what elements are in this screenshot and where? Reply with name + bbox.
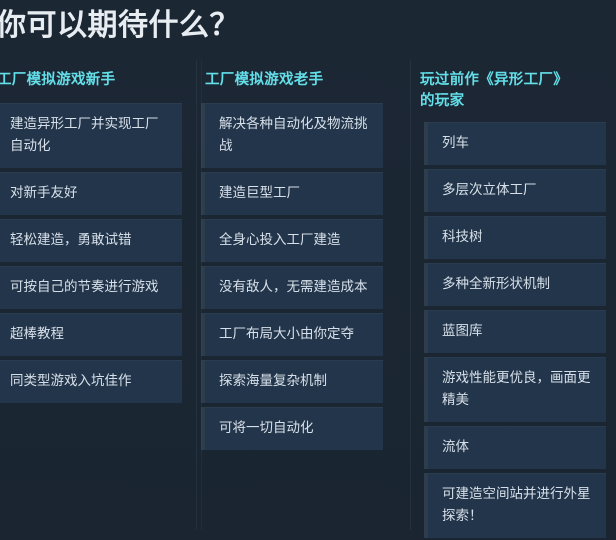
feature-card-text: 超棒教程 <box>10 323 168 345</box>
feature-card-text: 工厂布局大小由你定夺 <box>219 323 369 345</box>
column-veteran: 工厂模拟游戏老手 解决各种自动化及物流挑战 建造巨型工厂 全身心投入工厂建造 没… <box>196 62 410 540</box>
feature-card[interactable]: 科技树 <box>428 216 606 259</box>
feature-card-text: 全身心投入工厂建造 <box>219 229 369 251</box>
feature-card[interactable]: 全身心投入工厂建造 <box>205 219 383 262</box>
feature-card[interactable]: 没有敌人，无需建造成本 <box>205 266 383 309</box>
feature-card[interactable]: 建造异形工厂并实现工厂自动化 <box>0 103 182 168</box>
column-header-veteran: 工厂模拟游戏老手 <box>196 62 386 91</box>
feature-card-text: 同类型游戏入坑佳作 <box>10 370 168 392</box>
feature-card[interactable]: 对新手友好 <box>0 172 182 215</box>
feature-card-text: 流体 <box>442 436 592 458</box>
page-root: 你可以期待什么？ 工厂模拟游戏新手 建造异形工厂并实现工厂自动化 对新手友好 轻… <box>0 0 616 540</box>
feature-card-text: 建造巨型工厂 <box>219 182 369 204</box>
feature-card-text: 可按自己的节奏进行游戏 <box>10 276 168 298</box>
feature-card-text: 没有敌人，无需建造成本 <box>219 276 369 298</box>
feature-card-text: 蓝图库 <box>442 320 592 342</box>
feature-card[interactable]: 可将一切自动化 <box>205 407 383 450</box>
feature-card[interactable]: 多层次立体工厂 <box>428 169 606 212</box>
feature-card[interactable]: 同类型游戏入坑佳作 <box>0 360 182 403</box>
feature-card[interactable]: 游戏性能更优良，画面更精美 <box>428 357 606 422</box>
column-beginner: 工厂模拟游戏新手 建造异形工厂并实现工厂自动化 对新手友好 轻松建造，勇敢试错 … <box>0 62 196 540</box>
feature-card[interactable]: 工厂布局大小由你定夺 <box>205 313 383 356</box>
feature-card-text: 可建造空间站并进行外星探索！ <box>442 483 592 527</box>
card-list-beginner: 建造异形工厂并实现工厂自动化 对新手友好 轻松建造，勇敢试错 可按自己的节奏进行… <box>0 103 196 407</box>
feature-card[interactable]: 轻松建造，勇敢试错 <box>0 219 182 262</box>
feature-card-text: 轻松建造，勇敢试错 <box>10 229 168 251</box>
feature-card-text: 多层次立体工厂 <box>442 179 592 201</box>
feature-card[interactable]: 蓝图库 <box>428 310 606 353</box>
column-header-beginner: 工厂模拟游戏新手 <box>0 62 177 91</box>
feature-card[interactable]: 可按自己的节奏进行游戏 <box>0 266 182 309</box>
card-list-returning: 列车 多层次立体工厂 科技树 多种全新形状机制 蓝图库 游戏性能更优良，画面更精… <box>410 122 616 540</box>
feature-card[interactable]: 探索海量复杂机制 <box>205 360 383 403</box>
feature-card-text: 探索海量复杂机制 <box>219 370 369 392</box>
column-header-returning: 玩过前作《异形工厂》的玩家 <box>410 62 595 112</box>
feature-card-text: 多种全新形状机制 <box>442 273 592 295</box>
feature-card[interactable]: 列车 <box>428 122 606 165</box>
feature-card[interactable]: 可建造空间站并进行外星探索！ <box>428 473 606 538</box>
feature-card-text: 列车 <box>442 132 592 154</box>
feature-card[interactable]: 建造巨型工厂 <box>205 172 383 215</box>
feature-card-text: 游戏性能更优良，画面更精美 <box>442 367 592 411</box>
feature-card-text: 建造异形工厂并实现工厂自动化 <box>10 113 168 157</box>
feature-card[interactable]: 多种全新形状机制 <box>428 263 606 306</box>
feature-card[interactable]: 超棒教程 <box>0 313 182 356</box>
feature-card-text: 科技树 <box>442 226 592 248</box>
feature-card-text: 对新手友好 <box>10 182 168 204</box>
feature-card[interactable]: 解决各种自动化及物流挑战 <box>205 103 383 168</box>
card-list-veteran: 解决各种自动化及物流挑战 建造巨型工厂 全身心投入工厂建造 没有敌人，无需建造成… <box>196 103 410 454</box>
feature-card-text: 解决各种自动化及物流挑战 <box>219 113 369 157</box>
column-returning: 玩过前作《异形工厂》的玩家 列车 多层次立体工厂 科技树 多种全新形状机制 蓝图… <box>410 62 616 540</box>
feature-card[interactable]: 流体 <box>428 426 606 469</box>
page-title: 你可以期待什么？ <box>0 6 240 46</box>
feature-card-text: 可将一切自动化 <box>219 417 369 439</box>
feature-columns: 工厂模拟游戏新手 建造异形工厂并实现工厂自动化 对新手友好 轻松建造，勇敢试错 … <box>0 62 616 540</box>
